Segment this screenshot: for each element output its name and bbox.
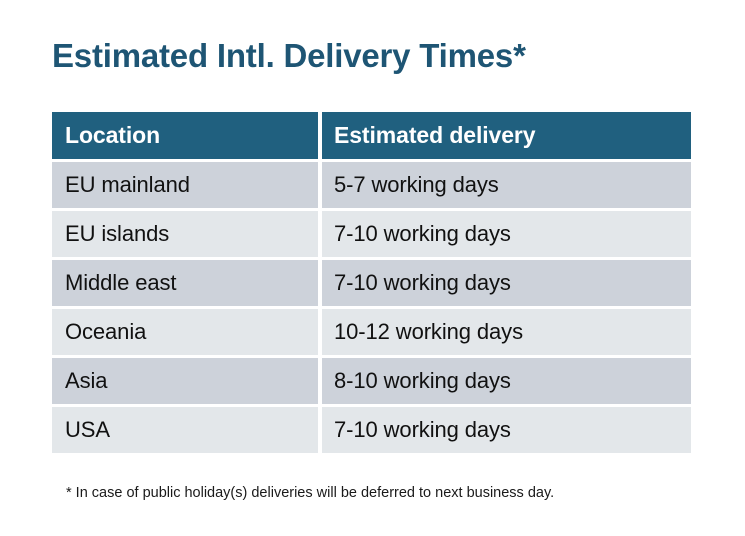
table-header-row: Location Estimated delivery	[52, 112, 691, 159]
cell-location: Middle east	[52, 260, 318, 306]
column-header-estimated-delivery: Estimated delivery	[322, 112, 691, 159]
table-row: Oceania 10-12 working days	[52, 309, 691, 355]
cell-location: USA	[52, 407, 318, 453]
cell-location: Oceania	[52, 309, 318, 355]
table-row: EU mainland 5-7 working days	[52, 162, 691, 208]
cell-delivery: 7-10 working days	[322, 211, 691, 257]
cell-location: EU islands	[52, 211, 318, 257]
cell-location: Asia	[52, 358, 318, 404]
page-title: Estimated Intl. Delivery Times*	[52, 36, 526, 76]
column-header-location: Location	[52, 112, 318, 159]
cell-delivery: 5-7 working days	[322, 162, 691, 208]
table-row: EU islands 7-10 working days	[52, 211, 691, 257]
table-row: USA 7-10 working days	[52, 407, 691, 453]
footnote: * In case of public holiday(s) deliverie…	[66, 483, 554, 503]
cell-location: EU mainland	[52, 162, 318, 208]
cell-delivery: 7-10 working days	[322, 407, 691, 453]
table-row: Asia 8-10 working days	[52, 358, 691, 404]
cell-delivery: 8-10 working days	[322, 358, 691, 404]
delivery-times-page: Estimated Intl. Delivery Times* Location…	[0, 0, 745, 536]
cell-delivery: 7-10 working days	[322, 260, 691, 306]
table-row: Middle east 7-10 working days	[52, 260, 691, 306]
cell-delivery: 10-12 working days	[322, 309, 691, 355]
delivery-times-table: Location Estimated delivery EU mainland …	[52, 112, 691, 456]
